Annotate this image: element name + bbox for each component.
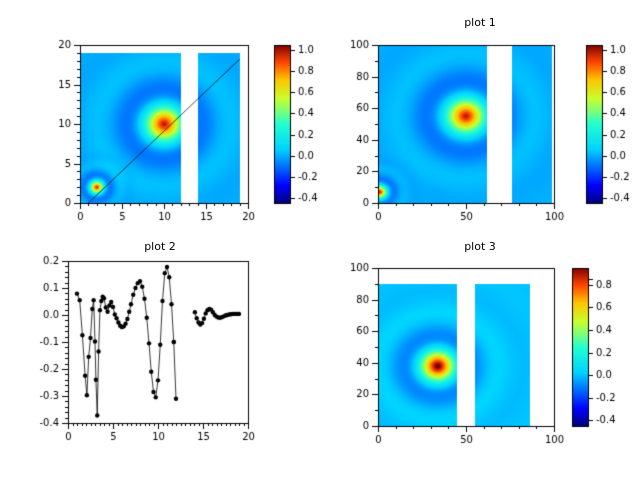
heatmap-plot3[interactable] [320, 240, 640, 480]
figure-canvas: plot 1 plot 2 plot 3 [0, 0, 640, 480]
heatmap-plot1[interactable] [320, 0, 640, 240]
plot1-title: plot 1 [320, 16, 640, 29]
subplot-bottom-left[interactable]: plot 2 [0, 240, 320, 480]
heatmap-plot0[interactable] [0, 0, 320, 240]
plot2-title: plot 2 [0, 240, 320, 253]
plot3-title: plot 3 [320, 240, 640, 253]
subplot-bottom-right[interactable]: plot 3 [320, 240, 640, 480]
line-plot2[interactable] [0, 240, 320, 480]
subplot-top-right[interactable]: plot 1 [320, 0, 640, 240]
subplot-top-left[interactable] [0, 0, 320, 240]
